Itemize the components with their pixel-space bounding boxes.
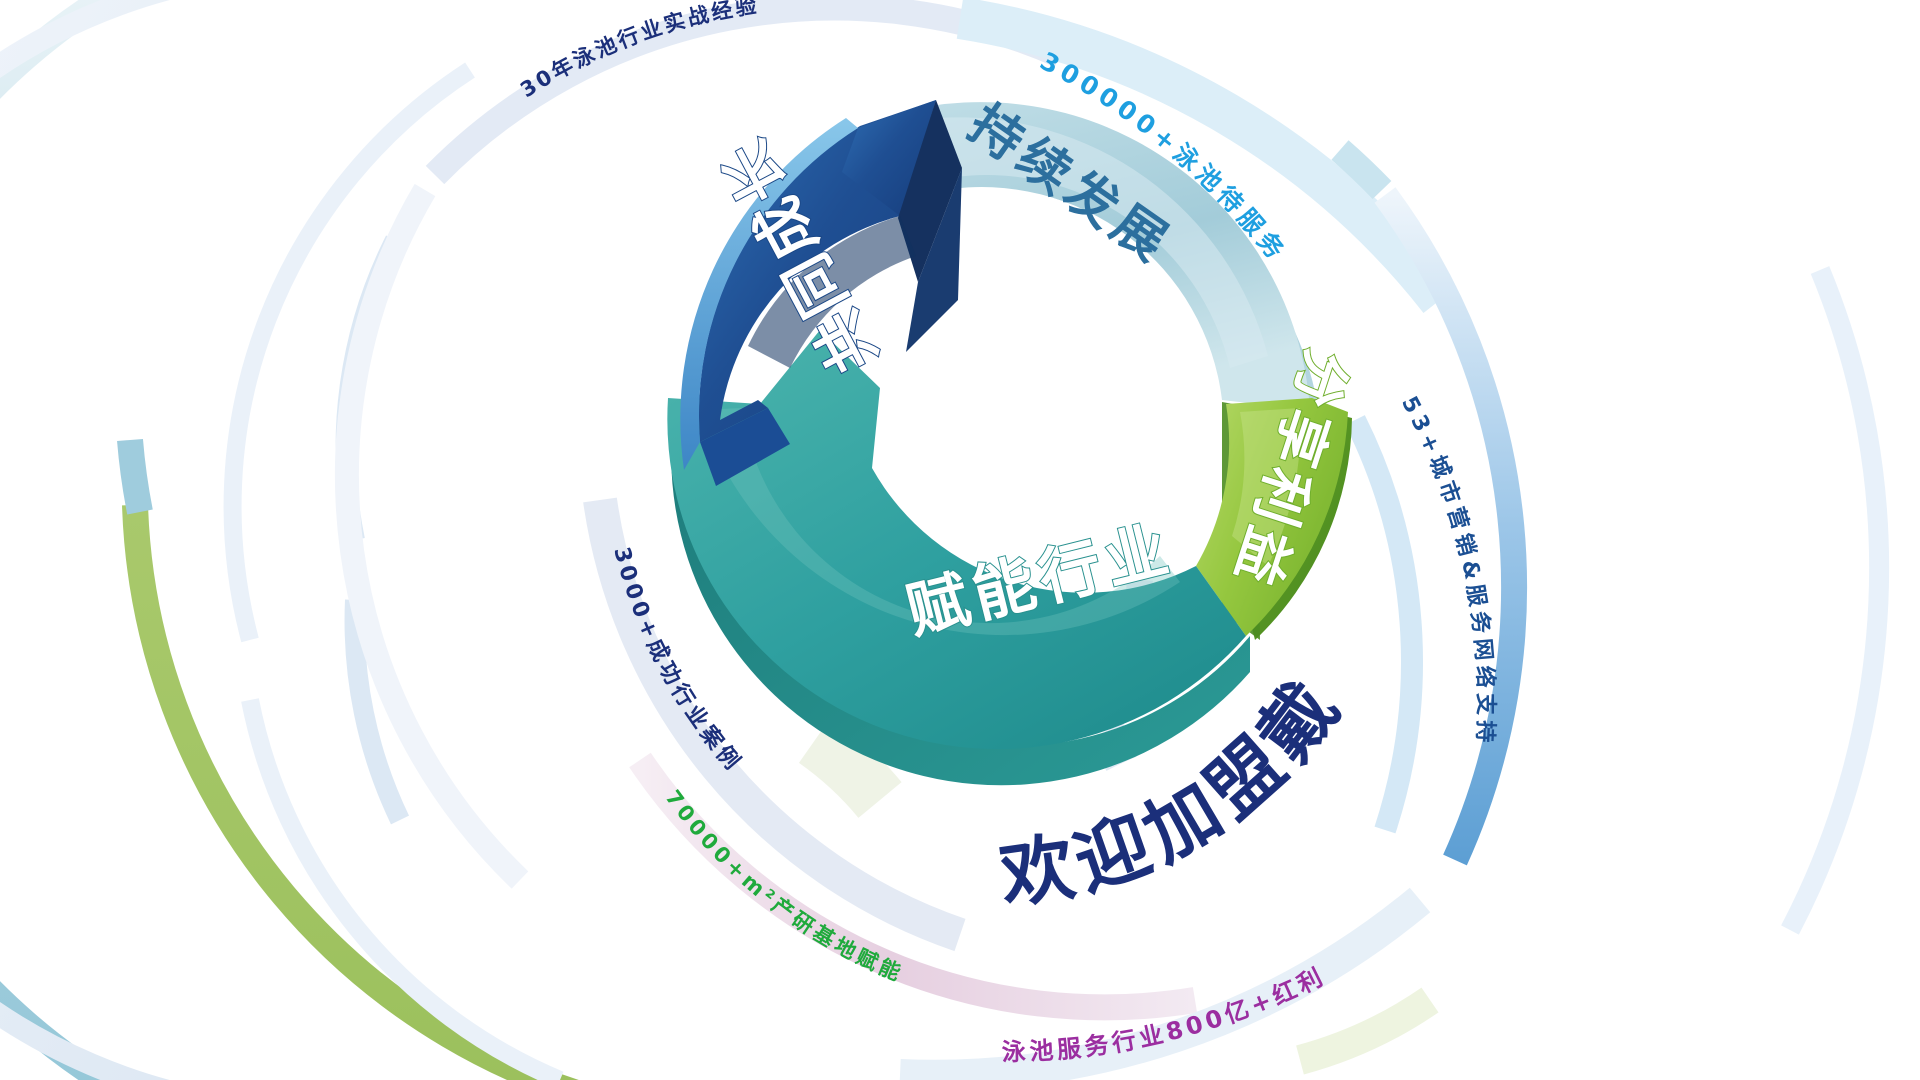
arc-blue-right-inner bbox=[1355, 420, 1412, 830]
arc-green-left-cap bbox=[130, 440, 140, 512]
ecosystem-diagram: 共同成长 持续发展 分享利益 赋能行业 30年泳池行业实战经验 bbox=[0, 0, 1920, 1080]
arc-pale-1 bbox=[0, 0, 330, 1080]
cycle-ring: 共同成长 持续发展 分享利益 赋能行业 bbox=[667, 94, 1359, 785]
poster-canvas: 共同成长 持续发展 分享利益 赋能行业 30年泳池行业实战经验 bbox=[0, 0, 1920, 1080]
arc-green-bottom bbox=[1300, 1000, 1430, 1060]
arc-blue-far-right bbox=[1790, 270, 1879, 930]
